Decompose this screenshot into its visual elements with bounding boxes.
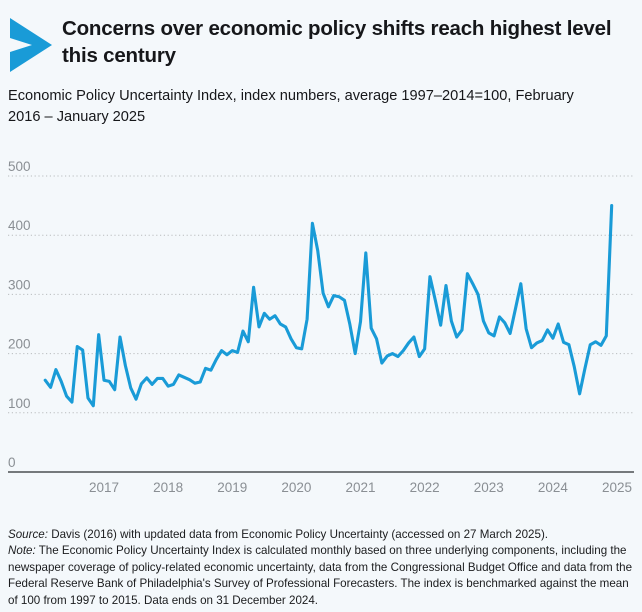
chart-area: 0100200300400500 20172018201920202021202… <box>0 150 642 515</box>
source-text: Davis (2016) with updated data from Econ… <box>48 528 548 541</box>
y-axis-tick-label: 200 <box>8 337 31 352</box>
header: Concerns over economic policy shifts rea… <box>0 0 642 74</box>
chevron-right-icon <box>8 16 54 74</box>
line-chart: 0100200300400500 20172018201920202021202… <box>0 150 642 515</box>
x-axis-tick-label: 2024 <box>538 480 569 495</box>
y-axis-tick-label: 300 <box>8 277 31 292</box>
x-axis-labels: 201720182019202020212022202320242025 <box>89 480 632 495</box>
y-axis-labels: 0100200300400500 <box>8 159 31 470</box>
x-axis-tick-label: 2019 <box>217 480 247 495</box>
x-axis-tick-label: 2023 <box>474 480 504 495</box>
y-axis-tick-label: 500 <box>8 159 31 174</box>
infographic-card: Concerns over economic policy shifts rea… <box>0 0 642 612</box>
y-axis-tick-label: 100 <box>8 396 31 411</box>
source-label: Source: <box>8 528 48 541</box>
chart-subtitle: Economic Policy Uncertainty Index, index… <box>8 86 588 128</box>
note-text: The Economic Policy Uncertainty Index is… <box>8 544 632 606</box>
x-axis-tick-label: 2020 <box>281 480 311 495</box>
explanatory-note: Note: The Economic Policy Uncertainty In… <box>8 543 638 609</box>
x-axis-tick-label: 2021 <box>345 480 375 495</box>
note-label: Note: <box>8 544 36 557</box>
footnotes: Source: Davis (2016) with updated data f… <box>8 527 638 609</box>
x-axis-tick-label: 2022 <box>410 480 440 495</box>
y-axis-tick-label: 0 <box>8 455 16 470</box>
x-axis-tick-label: 2017 <box>89 480 119 495</box>
y-axis-tick-label: 400 <box>8 218 31 233</box>
gridlines <box>8 176 634 413</box>
x-axis-tick-label: 2018 <box>153 480 183 495</box>
source-note: Source: Davis (2016) with updated data f… <box>8 527 638 543</box>
x-axis-tick-label: 2025 <box>602 480 632 495</box>
page-title: Concerns over economic policy shifts rea… <box>62 14 630 74</box>
